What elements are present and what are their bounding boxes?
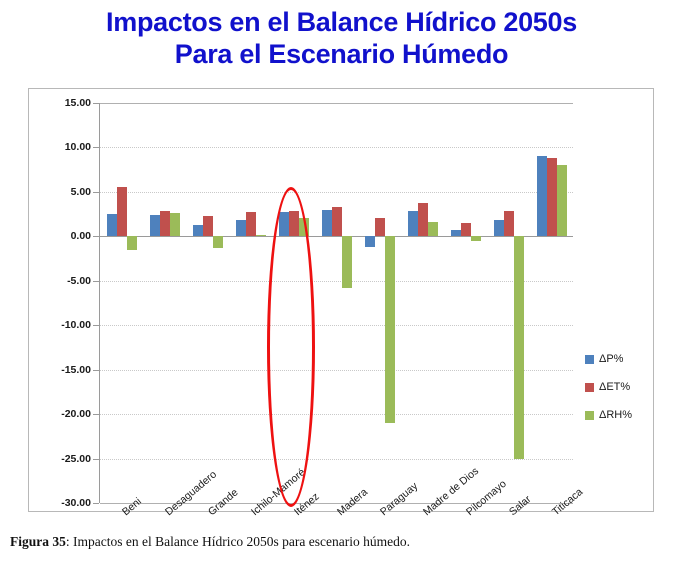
bar-rh-madera	[342, 236, 352, 288]
chart-legend: ΔP%ΔET%ΔRH%	[585, 345, 651, 429]
y-axis-tick-mark	[93, 192, 99, 193]
legend-label: ΔRH%	[599, 409, 632, 421]
bar-rh-beni	[127, 236, 137, 249]
bar-rh-madre-de-dios	[428, 222, 438, 236]
gridline	[100, 459, 573, 460]
y-axis-tick-mark	[93, 325, 99, 326]
zero-baseline	[100, 236, 573, 237]
figure-caption: Figura 35: Impactos en el Balance Hídric…	[10, 534, 673, 550]
y-axis-tick-label: 15.00	[35, 97, 91, 109]
bar-p-madre-de-dios	[408, 211, 418, 236]
figure-caption-text: : Impactos en el Balance Hídrico 2050s p…	[66, 534, 410, 549]
bar-et-grande	[203, 216, 213, 236]
bar-et-pilcomayo	[461, 223, 471, 236]
y-axis-tick-mark	[93, 503, 99, 504]
bar-et-titicaca	[547, 158, 557, 236]
y-axis-tick-mark	[93, 236, 99, 237]
bar-p-pilcomayo	[451, 230, 461, 236]
y-axis-tick-label: 0.00	[35, 230, 91, 242]
bar-et-salar	[504, 211, 514, 237]
y-axis-tick-label: -20.00	[35, 408, 91, 420]
bar-p-desaguadero	[150, 215, 160, 236]
legend-item-rh: ΔRH%	[585, 401, 651, 429]
legend-item-et: ΔET%	[585, 373, 651, 401]
y-axis-tick-mark	[93, 147, 99, 148]
gridline	[100, 281, 573, 282]
bar-rh-grande	[213, 236, 223, 248]
bar-rh-pilcomayo	[471, 236, 481, 240]
bar-p-salar	[494, 220, 504, 236]
bar-rh-iténez	[299, 218, 309, 237]
bar-et-paraguay	[375, 218, 385, 237]
y-axis-tick-mark	[93, 459, 99, 460]
bar-rh-ichilo-mamoré	[256, 235, 266, 236]
y-axis-tick-mark	[93, 370, 99, 371]
legend-swatch-icon	[585, 355, 594, 364]
gridline	[100, 325, 573, 326]
chart-frame: 15.0010.005.000.00-5.00-10.00-15.00-20.0…	[28, 88, 654, 512]
bar-p-titicaca	[537, 156, 547, 236]
bar-p-madera	[322, 210, 332, 237]
bar-p-beni	[107, 214, 117, 236]
bar-et-madre-de-dios	[418, 203, 428, 236]
legend-label: ΔET%	[599, 381, 630, 393]
bar-et-ichilo-mamoré	[246, 212, 256, 236]
y-axis-labels: 15.0010.005.000.00-5.00-10.00-15.00-20.0…	[29, 103, 91, 503]
page-title-line-2: Para el Escenario Húmedo	[0, 38, 683, 70]
bar-rh-paraguay	[385, 236, 395, 423]
figure-caption-label: Figura 35	[10, 534, 66, 549]
bar-p-grande	[193, 225, 203, 237]
y-axis-tick-label: 10.00	[35, 141, 91, 153]
legend-swatch-icon	[585, 411, 594, 420]
y-axis-tick-label: -15.00	[35, 364, 91, 376]
bar-et-madera	[332, 207, 342, 236]
bar-et-beni	[117, 187, 127, 236]
y-axis-tick-mark	[93, 103, 99, 104]
gridline	[100, 370, 573, 371]
bar-p-ichilo-mamoré	[236, 220, 246, 236]
page-title-line-1: Impactos en el Balance Hídrico 2050s	[0, 6, 683, 38]
y-axis-tick-label: -30.00	[35, 497, 91, 509]
y-axis-tick-label: -5.00	[35, 275, 91, 287]
legend-item-p: ΔP%	[585, 345, 651, 373]
legend-label: ΔP%	[599, 353, 623, 365]
gridline	[100, 414, 573, 415]
plot-area	[100, 103, 573, 503]
legend-swatch-icon	[585, 383, 594, 392]
bar-p-iténez	[279, 212, 289, 236]
bar-rh-salar	[514, 236, 524, 458]
gridline	[100, 103, 573, 104]
bar-et-desaguadero	[160, 211, 170, 237]
gridline	[100, 147, 573, 148]
page-title: Impactos en el Balance Hídrico 2050s Par…	[0, 0, 683, 70]
y-axis-tick-mark	[93, 281, 99, 282]
y-axis-tick-label: 5.00	[35, 186, 91, 198]
bar-et-iténez	[289, 211, 299, 236]
gridline	[100, 192, 573, 193]
bar-rh-titicaca	[557, 165, 567, 236]
chart-plot-wrapper: 15.0010.005.000.00-5.00-10.00-15.00-20.0…	[29, 89, 655, 513]
y-axis-tick-label: -10.00	[35, 319, 91, 331]
y-axis-tick-mark	[93, 414, 99, 415]
bar-rh-desaguadero	[170, 213, 180, 236]
y-axis-tick-label: -25.00	[35, 453, 91, 465]
bar-p-paraguay	[365, 236, 375, 247]
